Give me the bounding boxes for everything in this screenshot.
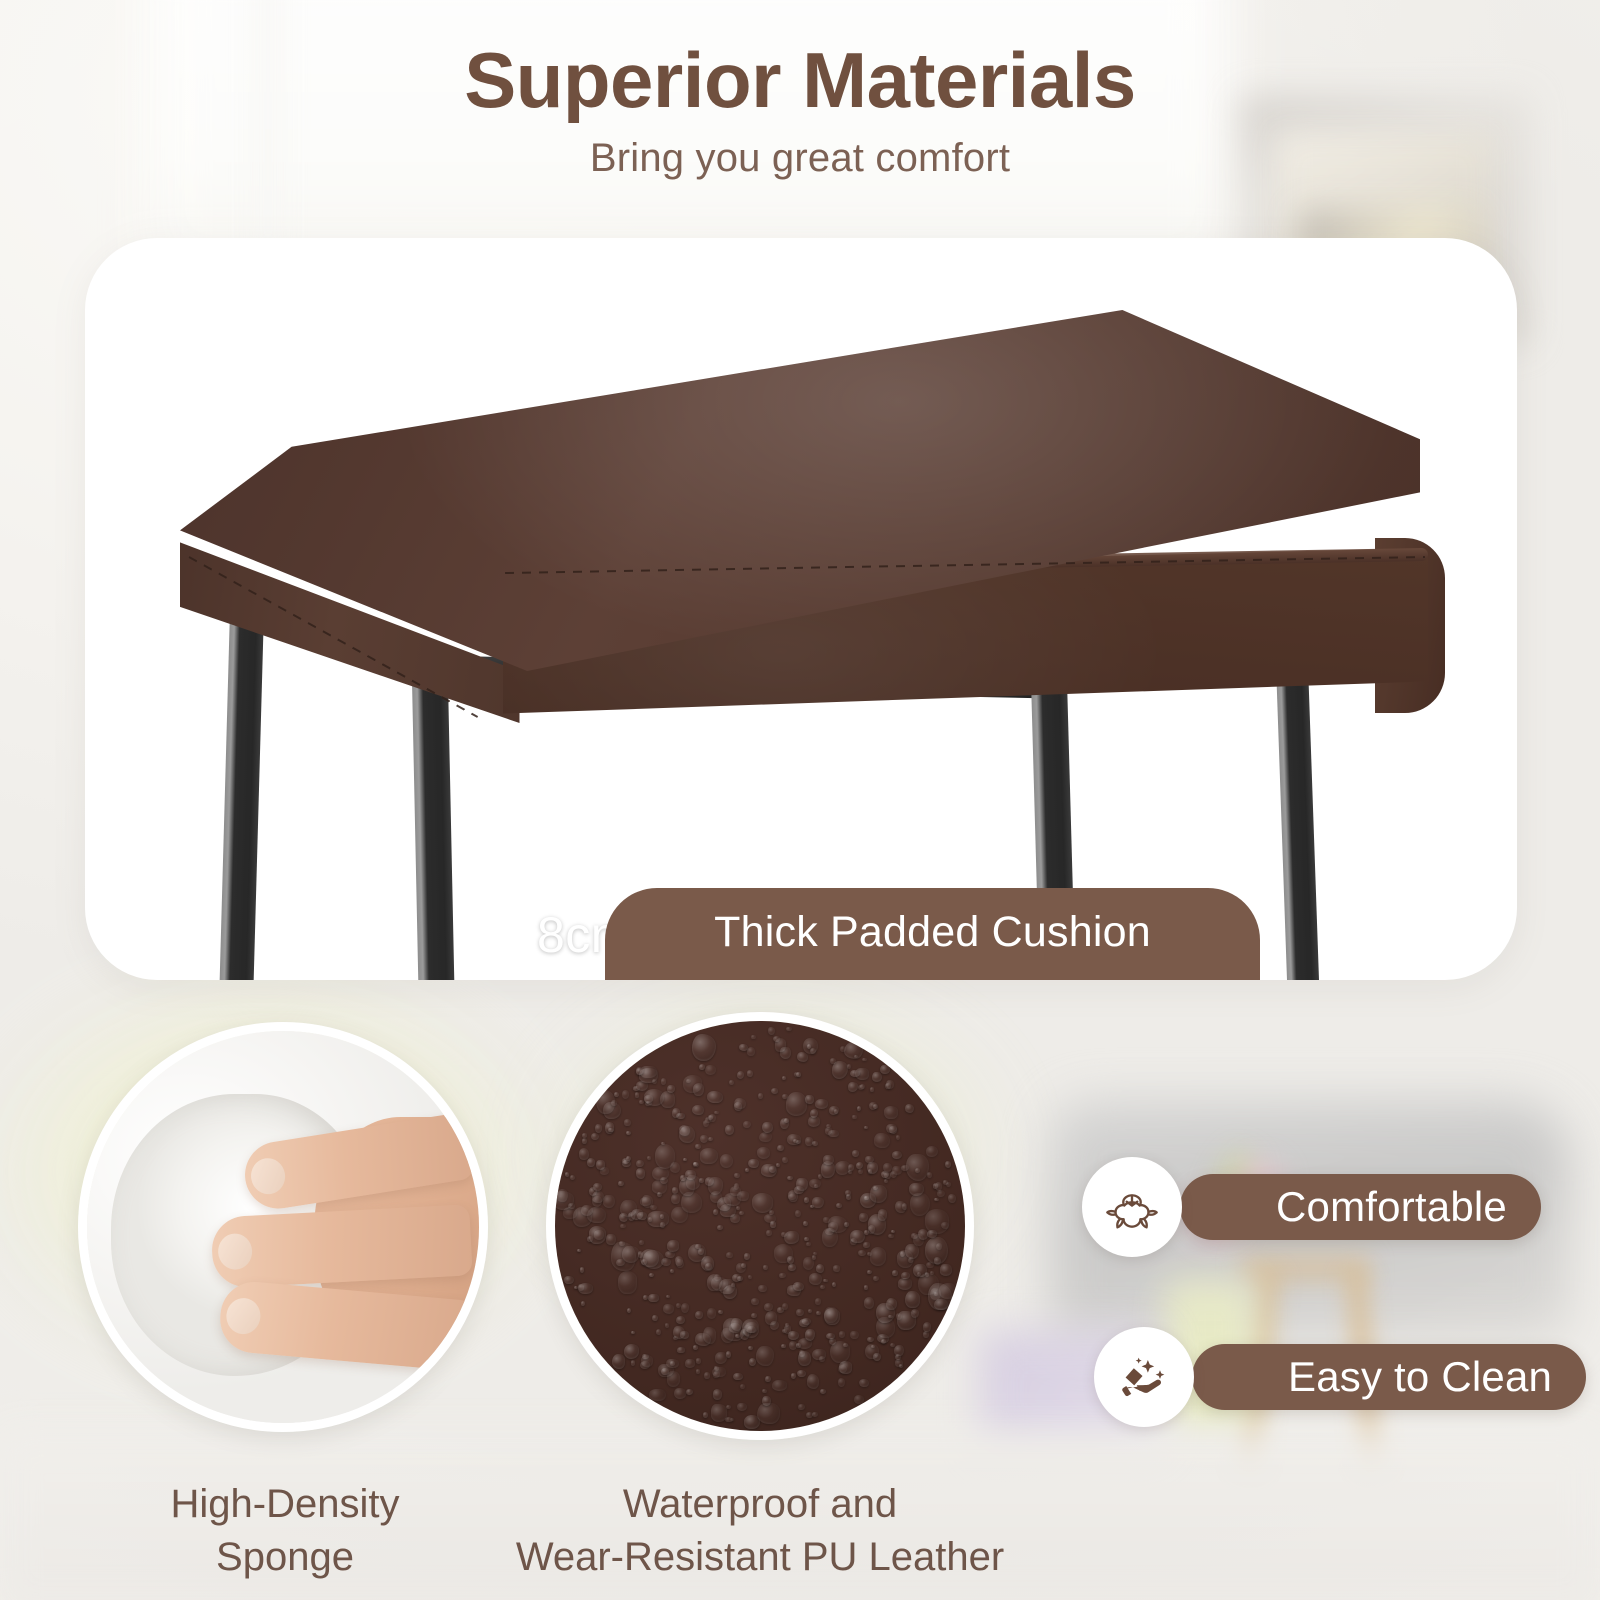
page-title: Superior Materials (0, 38, 1600, 122)
stool-illustration (85, 238, 1517, 980)
cotton-boll-icon (1082, 1157, 1182, 1257)
caption-line-1: High-Density (60, 1478, 510, 1531)
water-droplets (555, 1021, 965, 1431)
dimension-line (489, 886, 492, 980)
stool-leg-far-right (1275, 636, 1319, 980)
thick-padded-cushion-badge: Thick Padded Cushion (605, 888, 1260, 980)
fingernail (248, 1156, 287, 1197)
pu-leather-surface (555, 1021, 965, 1431)
feature-pill-easy-to-clean: Easy to Clean (1192, 1344, 1586, 1410)
stool-leg-front-left (220, 598, 265, 980)
stool-leg-front-mid (412, 668, 455, 980)
caption-high-density-sponge: High-Density Sponge (60, 1478, 510, 1584)
pu-leather-waterproof-image (546, 1012, 974, 1440)
caption-line-2: Sponge (60, 1531, 510, 1584)
caption-line-1: Waterproof and (470, 1478, 1050, 1531)
caption-line-2: Wear-Resistant PU Leather (470, 1531, 1050, 1584)
arrow-up-icon (481, 874, 501, 890)
header: Superior Materials Bring you great comfo… (0, 0, 1600, 181)
feature-pill-label: Easy to Clean (1288, 1353, 1552, 1401)
hand-finger-2 (211, 1205, 473, 1289)
hero-product-card: 8cm Thick Padded Cushion (85, 238, 1517, 980)
thick-padded-cushion-label: Thick Padded Cushion (714, 908, 1151, 961)
feature-pill-comfortable: Comfortable (1180, 1174, 1541, 1240)
feature-pill-label: Comfortable (1276, 1183, 1507, 1231)
sponge-foam-surface (87, 1031, 479, 1423)
high-density-sponge-image (78, 1022, 488, 1432)
fingernail (225, 1297, 262, 1336)
fingernail (218, 1233, 254, 1271)
hand-wipe-sparkle-icon (1094, 1327, 1194, 1427)
caption-pu-leather: Waterproof and Wear-Resistant PU Leather (470, 1478, 1050, 1584)
page-subtitle: Bring you great comfort (0, 136, 1600, 181)
